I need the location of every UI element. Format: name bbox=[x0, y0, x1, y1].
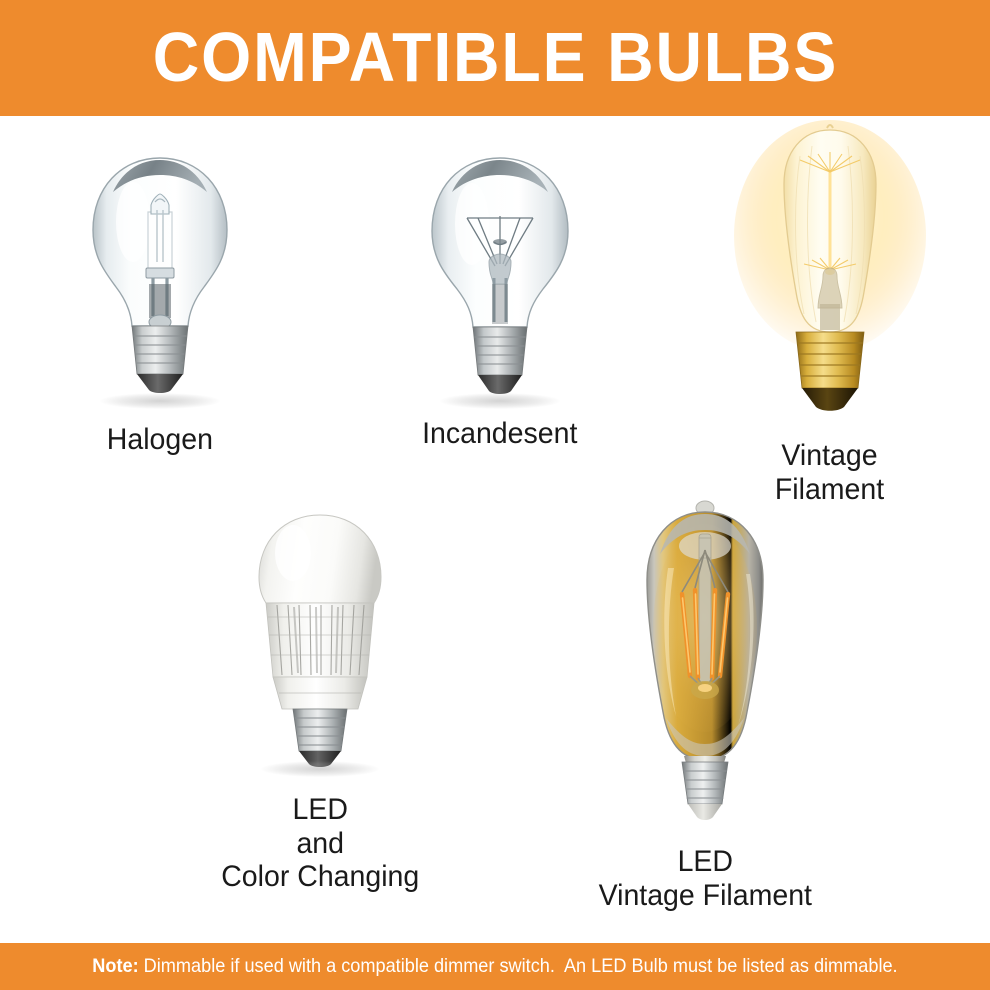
header-bar: COMPATIBLE BULBS bbox=[0, 0, 990, 116]
incandescent-screw-base bbox=[473, 327, 527, 394]
led-vintage-screw-base bbox=[682, 762, 728, 820]
incandescent-bulb-svg bbox=[415, 150, 585, 400]
led-bulb-svg bbox=[235, 505, 405, 770]
bulb-label-led: LED and Color Changing bbox=[221, 793, 419, 894]
vintage-screw-base bbox=[796, 332, 864, 411]
bulb-card-led-vintage-filament: LED Vintage Filament bbox=[545, 498, 865, 912]
dome-highlight bbox=[275, 525, 311, 581]
bulb-label-led-vintage-filament: LED Vintage Filament bbox=[598, 845, 811, 912]
led-screw-base bbox=[293, 709, 347, 767]
stem-post bbox=[699, 534, 711, 682]
compatible-bulbs-infographic: COMPATIBLE BULBS bbox=[0, 0, 990, 990]
glass-highlight bbox=[455, 183, 489, 265]
vintage-filament-bulb-icon bbox=[730, 118, 930, 423]
bulb-card-led: LED and Color Changing bbox=[180, 505, 460, 894]
halogen-screw-base bbox=[132, 326, 188, 393]
page-title: COMPATIBLE BULBS bbox=[152, 22, 837, 92]
halogen-bulb-svg bbox=[75, 150, 245, 400]
note-lead-label: Note: bbox=[92, 955, 138, 977]
footer-note-bar: Note: Dimmable if used with a compatible… bbox=[0, 943, 990, 990]
note-body-text: Dimmable if used with a compatible dimme… bbox=[139, 955, 898, 977]
led-bulb-icon bbox=[235, 505, 405, 775]
led-heatsink bbox=[266, 603, 374, 677]
vintage-filament-bulb-svg bbox=[730, 118, 930, 418]
led-vintage-filament-bulb-icon bbox=[598, 498, 813, 833]
glass-highlight bbox=[116, 182, 150, 262]
bulb-label-vintage-filament: Vintage Filament bbox=[775, 439, 884, 506]
bulb-card-incandescent: Incandesent bbox=[390, 150, 610, 451]
led-vintage-filament-bulb-svg bbox=[598, 498, 813, 828]
stem-press bbox=[489, 254, 511, 324]
incandescent-bulb-icon bbox=[415, 150, 585, 405]
halogen-stem bbox=[149, 278, 171, 329]
bulb-label-incandescent: Incandesent bbox=[422, 417, 577, 451]
bulb-card-halogen: Halogen bbox=[50, 150, 270, 457]
bulb-card-vintage-filament: Vintage Filament bbox=[700, 118, 960, 506]
halogen-bulb-icon bbox=[75, 150, 245, 405]
footer-note: Note: Dimmable if used with a compatible… bbox=[92, 957, 897, 977]
filament bbox=[493, 239, 507, 245]
bulb-label-halogen: Halogen bbox=[107, 423, 213, 457]
